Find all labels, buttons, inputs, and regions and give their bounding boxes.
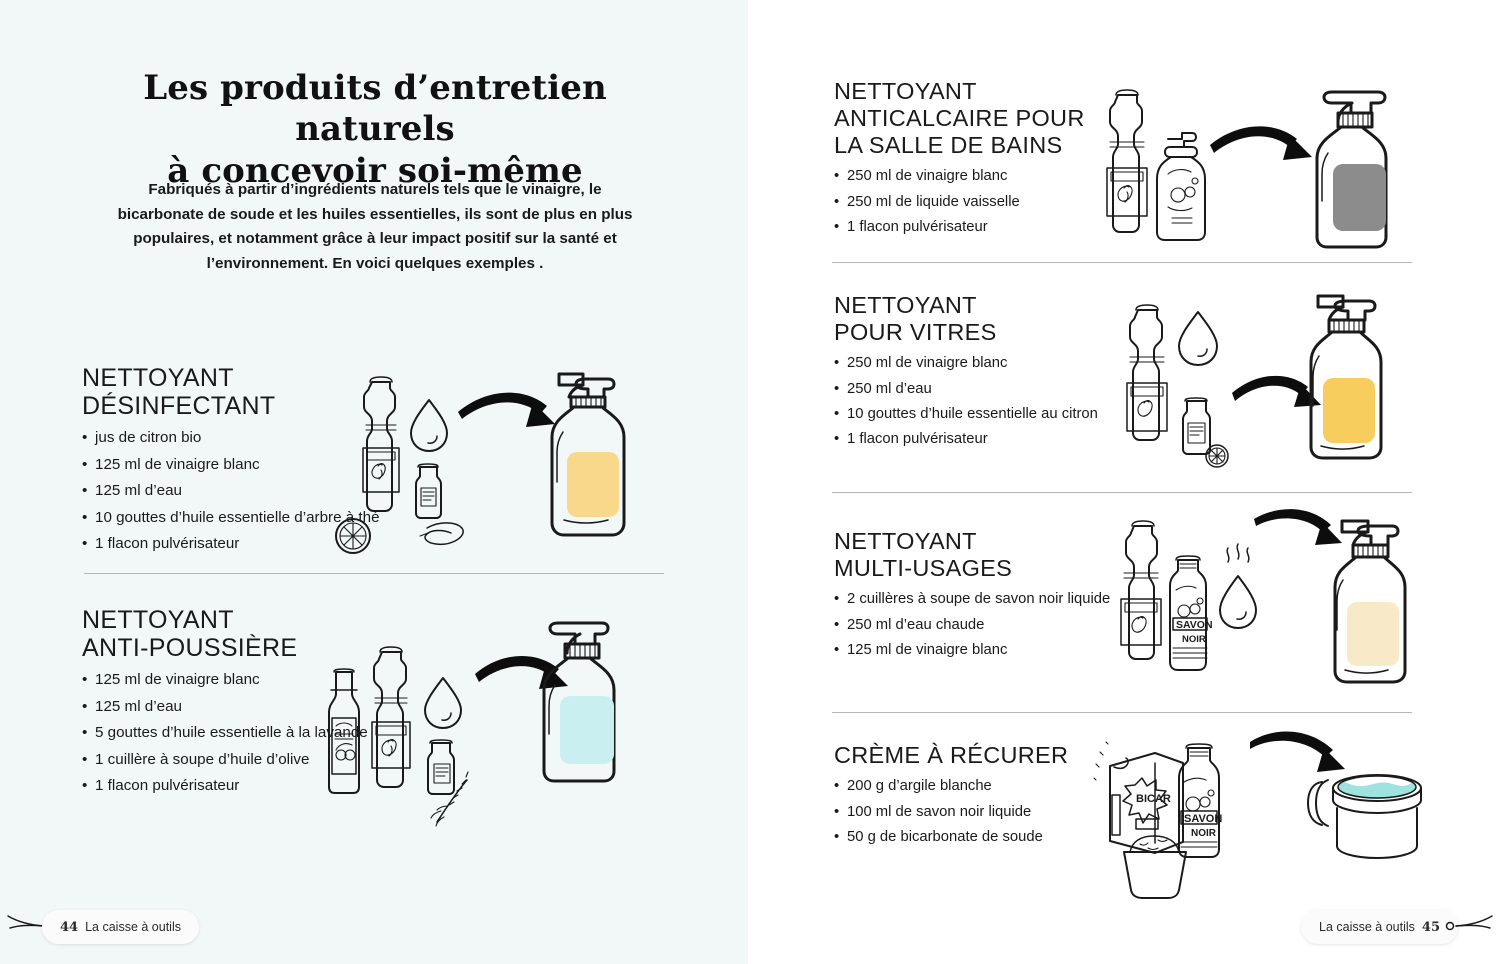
section-divider: [84, 573, 664, 574]
heading-line-1: CRÈME À RÉCURER: [834, 742, 1068, 768]
heading-line-1: NETTOYANT: [834, 528, 977, 554]
open-jar-icon: [1308, 775, 1421, 858]
savon-label-line1: SAVON: [1184, 813, 1222, 825]
ingredient-list: 2 cuillères à soupe de savon noir liquid…: [834, 588, 1134, 661]
list-item: 1 flacon pulvérisateur: [834, 216, 1124, 238]
arrow-icon: [1250, 732, 1345, 772]
water-drop-icon: [425, 678, 461, 728]
section-heading: CRÈME À RÉCURER: [834, 742, 1134, 769]
section-divider: [832, 492, 1412, 493]
section-divider: [832, 262, 1412, 263]
right-page: NETTOYANT ANTICALCAIRE POUR LA SALLE DE …: [748, 0, 1500, 964]
section-heading: NETTOYANT POUR VITRES: [834, 292, 1134, 346]
lemon-slice-icon: [1206, 445, 1228, 467]
ingredient-list: 250 ml de vinaigre blanc 250 ml de liqui…: [834, 165, 1124, 238]
illustration-desinfectant: [330, 360, 670, 560]
water-drop-icon: [1220, 576, 1256, 628]
ingredient-list: 250 ml de vinaigre blanc 250 ml d’eau 10…: [834, 352, 1134, 451]
footer-left[interactable]: 44 La caisse à outils: [42, 910, 199, 944]
spray-bottle-icon: [1335, 521, 1405, 682]
savon-label-line2: NOIR: [1182, 634, 1206, 645]
page-number: 44: [60, 920, 78, 935]
illustration-creme-a-recurer: BICAR SAVON NOIR: [1090, 730, 1425, 900]
list-item: 125 ml de vinaigre blanc: [834, 639, 1134, 661]
list-item: 250 ml d’eau: [834, 378, 1134, 400]
heading-line-2: ANTICALCAIRE POUR: [834, 105, 1085, 131]
heading-line-1: NETTOYANT: [82, 364, 234, 392]
illustration-anticalcaire: [1100, 82, 1430, 262]
arrow-icon: [1254, 509, 1342, 545]
heading-line-2: POUR VITRES: [834, 319, 997, 345]
spray-bottle-icon: [544, 623, 614, 781]
vinegar-bottle-icon: [372, 647, 410, 787]
savon-label-line1: SAVON: [1176, 619, 1213, 631]
intro-paragraph: Fabriqués à partir d’ingrédients naturel…: [110, 178, 640, 277]
savon-label-line2: NOIR: [1191, 828, 1217, 839]
arrow-icon: [475, 656, 568, 689]
heading-line-1: NETTOYANT: [834, 292, 977, 318]
bicarbonate-box-icon: BICAR: [1110, 753, 1183, 853]
section-heading: NETTOYANT MULTI-USAGES: [834, 528, 1134, 582]
vinegar-bottle-icon: [1127, 305, 1167, 440]
section-nettoyant-anticalcaire: NETTOYANT ANTICALCAIRE POUR LA SALLE DE …: [834, 78, 1124, 239]
vinegar-bottle-icon: [1107, 90, 1147, 232]
list-item: 100 ml de savon noir liquide: [834, 801, 1134, 823]
olive-oil-bottle-icon: [329, 669, 359, 793]
bookmark-ribbon-right: [1424, 912, 1494, 938]
list-item: 200 g d’argile blanche: [834, 775, 1134, 797]
illustration-vitres: [1120, 288, 1440, 483]
essential-oil-bottle-icon: [428, 740, 454, 794]
footer-label: La caisse à outils: [1319, 920, 1415, 934]
heading-line-2: ANTI-POUSSIÈRE: [82, 634, 297, 662]
water-drop-icon: [411, 400, 447, 451]
arrow-icon: [1232, 376, 1321, 407]
list-item: 250 ml d’eau chaude: [834, 614, 1134, 636]
spray-bottle-icon: [552, 374, 624, 535]
list-item: 250 ml de vinaigre blanc: [834, 352, 1134, 374]
section-heading: NETTOYANT ANTICALCAIRE POUR LA SALLE DE …: [834, 78, 1124, 159]
book-spread: Les produits d’entretien naturels à conc…: [0, 0, 1500, 964]
left-page: Les produits d’entretien naturels à conc…: [0, 0, 748, 964]
page-title: Les produits d’entretien naturels à conc…: [60, 68, 690, 192]
list-item: 2 cuillères à soupe de savon noir liquid…: [834, 588, 1134, 610]
arrow-icon: [458, 393, 555, 427]
list-item: 10 gouttes d’huile essentielle au citron: [834, 403, 1134, 425]
section-nettoyant-pour-vitres: NETTOYANT POUR VITRES 250 ml de vinaigre…: [834, 292, 1134, 451]
bicar-label: BICAR: [1136, 793, 1171, 805]
illustration-anti-poussiere: [320, 612, 665, 832]
lemon-slice-icon: [336, 519, 370, 553]
list-item: 1 flacon pulvérisateur: [834, 428, 1134, 450]
water-drop-icon: [1179, 312, 1217, 365]
heading-line-2: DÉSINFECTANT: [82, 392, 275, 420]
heading-line-3: LA SALLE DE BAINS: [834, 132, 1062, 158]
savon-noir-bottle-icon: SAVON NOIR: [1170, 556, 1213, 670]
section-nettoyant-multi-usages: NETTOYANT MULTI-USAGES 2 cuillères à sou…: [834, 528, 1134, 661]
heading-line-1: NETTOYANT: [82, 606, 234, 634]
spray-bottle-icon: [1317, 92, 1386, 247]
essential-oil-bottle-icon: [416, 464, 441, 518]
savon-noir-bottle-icon: SAVON NOIR: [1179, 744, 1222, 857]
title-line-1: Les produits d’entretien naturels: [143, 68, 607, 149]
arrow-icon: [1210, 126, 1312, 160]
essential-oil-bottle-icon: [1183, 398, 1210, 454]
steam-lines-icon: [1227, 544, 1249, 562]
illustration-multi-usages: SAVON NOIR: [1116, 508, 1446, 708]
section-divider: [832, 712, 1412, 713]
heading-line-2: MULTI-USAGES: [834, 555, 1012, 581]
dish-soap-pump-bottle-icon: [1157, 133, 1205, 240]
leaf-icon: [420, 523, 463, 544]
list-item: 50 g de bicarbonate de soude: [834, 826, 1134, 848]
sparkle-icon: [1094, 742, 1108, 780]
footer-label: La caisse à outils: [85, 920, 181, 934]
vinegar-bottle-icon: [1121, 521, 1161, 659]
vinegar-bottle-icon: [363, 377, 399, 511]
powder-bowl-icon: [1124, 836, 1186, 898]
spray-bottle-icon: [1311, 296, 1381, 458]
section-creme-a-recurer: CRÈME À RÉCURER 200 g d’argile blanche 1…: [834, 742, 1134, 848]
heading-line-1: NETTOYANT: [834, 78, 977, 104]
ingredient-list: 200 g d’argile blanche 100 ml de savon n…: [834, 775, 1134, 848]
list-item: 250 ml de liquide vaisselle: [834, 191, 1124, 213]
list-item: 250 ml de vinaigre blanc: [834, 165, 1124, 187]
